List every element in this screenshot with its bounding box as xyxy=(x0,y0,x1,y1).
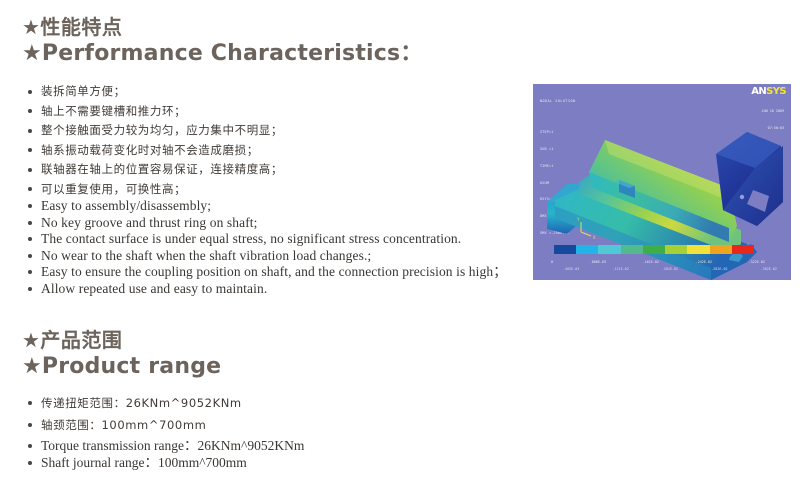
fea-color-legend xyxy=(554,245,754,254)
product-range-bullets-cn: 传递扭矩范围：26KNm^9052KNm 轴颈范围：100mm^700mm xyxy=(28,392,242,436)
legend-swatch xyxy=(554,245,576,254)
list-item: 联轴器在轴上的位置容易保证，连接精度高； xyxy=(28,160,283,180)
bullet-dot-icon xyxy=(28,461,32,465)
heading-cn-performance: ★性能特点 xyxy=(22,14,423,40)
legend-swatch xyxy=(665,245,687,254)
fea-legend-labels-major: 0 .806E-03 .161E-02 .242E-02 .322E-02 xyxy=(551,260,765,264)
list-item-label: 轴系振动载荷变化时对轴不会造成磨损； xyxy=(41,143,259,157)
bullet-dot-icon xyxy=(28,287,32,291)
bullet-dot-icon xyxy=(28,187,32,191)
list-item-label: 装拆简单方便； xyxy=(41,84,126,98)
legend-label: .806E-03 xyxy=(590,260,606,264)
bullet-dot-icon xyxy=(28,168,32,172)
bullet-dot-icon xyxy=(28,270,32,274)
legend-label: .201E-02 xyxy=(662,267,678,271)
legend-swatch xyxy=(621,245,643,254)
list-item: Allow repeated use and easy to maintain. xyxy=(28,281,507,298)
bullet-dot-icon xyxy=(28,401,32,405)
legend-swatch xyxy=(598,245,620,254)
list-item-label: Torque transmission range：26KNm^9052KNm xyxy=(41,438,304,453)
bullet-dot-icon xyxy=(28,444,32,448)
legend-swatch xyxy=(687,245,709,254)
svg-text:X: X xyxy=(593,235,596,240)
list-item-label: 传递扭矩范围：26KNm^9052KNm xyxy=(41,396,242,410)
list-item-label: No key groove and thrust ring on shaft; xyxy=(41,215,258,230)
list-item-label: 联轴器在轴上的位置容易保证，连接精度高； xyxy=(41,162,283,176)
fea-legend-labels-minor: .403E-03 .121E-02 .201E-02 .282E-02 .362… xyxy=(563,267,777,271)
legend-label: .121E-02 xyxy=(612,267,628,271)
heading-cn-product-range: ★产品范围 xyxy=(22,327,221,353)
list-item-label: No wear to the shaft when the shaft vibr… xyxy=(41,248,371,263)
brochure-page: ★性能特点 ★Performance Characteristics： 装拆简单… xyxy=(0,0,811,477)
heading-en-product-range: ★Product range xyxy=(22,353,221,381)
heading-en-performance: ★Performance Characteristics： xyxy=(22,40,423,68)
list-item-label: Shaft journal range：100mm^700mm xyxy=(41,455,247,470)
list-item-label: The contact surface is under equal stres… xyxy=(41,231,461,246)
list-item: 可以重复使用，可换性高； xyxy=(28,180,283,200)
list-item-label: 整个接触面受力较为均匀，应力集中不明显； xyxy=(41,123,283,137)
list-item-label: 轴上不需要键槽和推力环； xyxy=(41,104,186,118)
legend-label: .161E-02 xyxy=(643,260,659,264)
bullet-dot-icon xyxy=(28,148,32,152)
legend-swatch xyxy=(643,245,665,254)
bullet-dot-icon xyxy=(28,254,32,258)
list-item: Easy to assembly/disassembly; xyxy=(28,198,507,215)
list-item-label: Easy to assembly/disassembly; xyxy=(41,198,211,213)
bullet-dot-icon xyxy=(28,204,32,208)
bullet-dot-icon xyxy=(28,221,32,225)
list-item: 装拆简单方便； xyxy=(28,82,283,102)
bullet-dot-icon xyxy=(28,109,32,113)
bullet-dot-icon xyxy=(28,237,32,241)
product-range-bullets-en: Torque transmission range：26KNm^9052KNm … xyxy=(28,437,304,471)
bullet-dot-icon xyxy=(28,423,32,427)
performance-bullets-cn: 装拆简单方便； 轴上不需要键槽和推力环； 整个接触面受力较为均匀，应力集中不明显… xyxy=(28,82,283,199)
legend-label: .403E-03 xyxy=(563,267,579,271)
legend-label: .362E-02 xyxy=(761,267,777,271)
list-item: The contact surface is under equal stres… xyxy=(28,231,507,248)
legend-label: 0 xyxy=(551,260,553,264)
list-item: 轴颈范围：100mm^700mm xyxy=(28,414,242,436)
legend-swatch xyxy=(576,245,598,254)
list-item-label: Allow repeated use and easy to maintain. xyxy=(41,281,267,296)
section-performance-heading: ★性能特点 ★Performance Characteristics： xyxy=(22,14,423,68)
legend-swatch xyxy=(710,245,732,254)
legend-label: .322E-02 xyxy=(749,260,765,264)
legend-swatch xyxy=(732,245,754,254)
list-item: Easy to ensure the coupling position on … xyxy=(28,264,507,281)
bullet-dot-icon xyxy=(28,90,32,94)
performance-bullets-en: Easy to assembly/disassembly; No key gro… xyxy=(28,198,507,297)
list-item: 轴系振动载荷变化时对轴不会造成磨损； xyxy=(28,141,283,161)
list-item-label: Easy to ensure the coupling position on … xyxy=(41,264,507,279)
ansys-fea-figure: ANSYS NODAL SOLUTION STEP=1 SUB =1 TIME=… xyxy=(533,84,791,280)
list-item: Torque transmission range：26KNm^9052KNm xyxy=(28,437,304,454)
list-item: 整个接触面受力较为均匀，应力集中不明显； xyxy=(28,121,283,141)
list-item: Shaft journal range：100mm^700mm xyxy=(28,454,304,471)
list-item: No key groove and thrust ring on shaft; xyxy=(28,215,507,232)
legend-label: .282E-02 xyxy=(711,267,727,271)
section-product-range-heading: ★产品范围 ★Product range xyxy=(22,327,221,381)
list-item-label: 轴颈范围：100mm^700mm xyxy=(41,418,206,432)
legend-label: .242E-02 xyxy=(696,260,712,264)
list-item: 轴上不需要键槽和推力环； xyxy=(28,102,283,122)
list-item-label: 可以重复使用，可换性高； xyxy=(41,182,186,196)
list-item: 传递扭矩范围：26KNm^9052KNm xyxy=(28,392,242,414)
list-item: No wear to the shaft when the shaft vibr… xyxy=(28,248,507,265)
bullet-dot-icon xyxy=(28,129,32,133)
